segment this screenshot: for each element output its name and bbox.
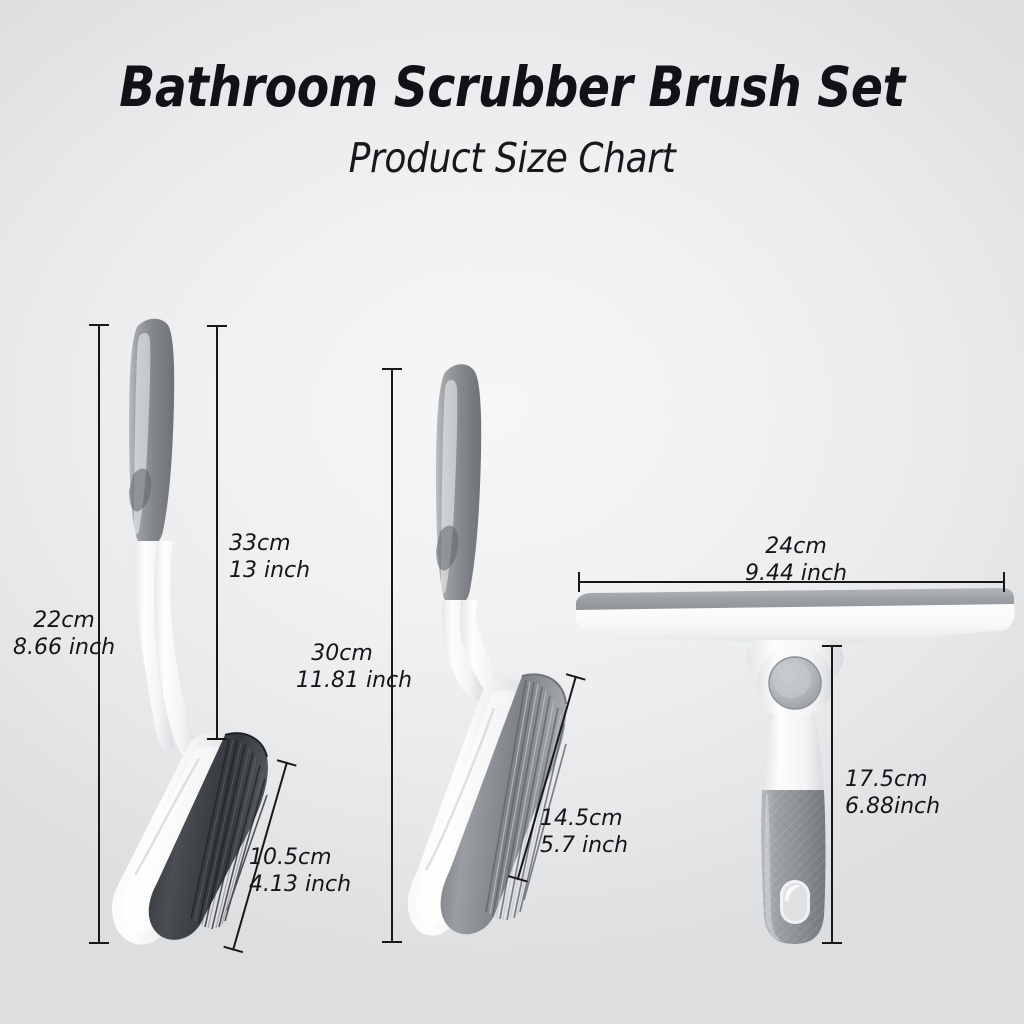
dimension-value-inch: 9.44 inch — [716, 561, 876, 588]
dimension-value-cm: 30cm — [296, 641, 388, 668]
product-size-chart: Bathroom Scrubber Brush Set Product Size… — [0, 0, 1024, 1024]
dimension-label-p1-overall-left: 22cm 8.66 inch — [4, 608, 124, 662]
dimension-value-inch: 8.66 inch — [4, 635, 124, 662]
dimension-value-cm: 24cm — [716, 534, 876, 561]
page-title: Bathroom Scrubber Brush Set — [72, 55, 953, 119]
dimension-label-p3-height: 17.5cm 6.88inch — [845, 767, 995, 821]
dimension-value-inch: 4.13 inch — [249, 872, 389, 899]
dimension-line-p2-overall — [391, 368, 393, 943]
dimension-line-p1-handle-height — [216, 325, 218, 740]
dimension-value-cm: 33cm — [229, 531, 359, 558]
dimension-label-p1-handle-height: 33cm 13 inch — [229, 531, 359, 585]
dimension-label-p3-blade-width: 24cm 9.44 inch — [716, 534, 876, 588]
dimension-line-p3-height — [831, 645, 833, 944]
dimension-value-cm: 17.5cm — [845, 767, 995, 794]
dimension-label-p1-head-length: 10.5cm 4.13 inch — [249, 845, 389, 899]
dimension-value-inch: 11.81 inch — [296, 668, 388, 695]
dimension-value-cm: 22cm — [4, 608, 124, 635]
dimension-label-p2-overall: 30cm 11.81 inch — [296, 641, 388, 695]
page-subtitle: Product Size Chart — [61, 134, 962, 182]
dimension-value-inch: 6.88inch — [845, 794, 995, 821]
dimension-value-inch: 13 inch — [229, 558, 359, 585]
dimension-value-cm: 10.5cm — [249, 845, 389, 872]
